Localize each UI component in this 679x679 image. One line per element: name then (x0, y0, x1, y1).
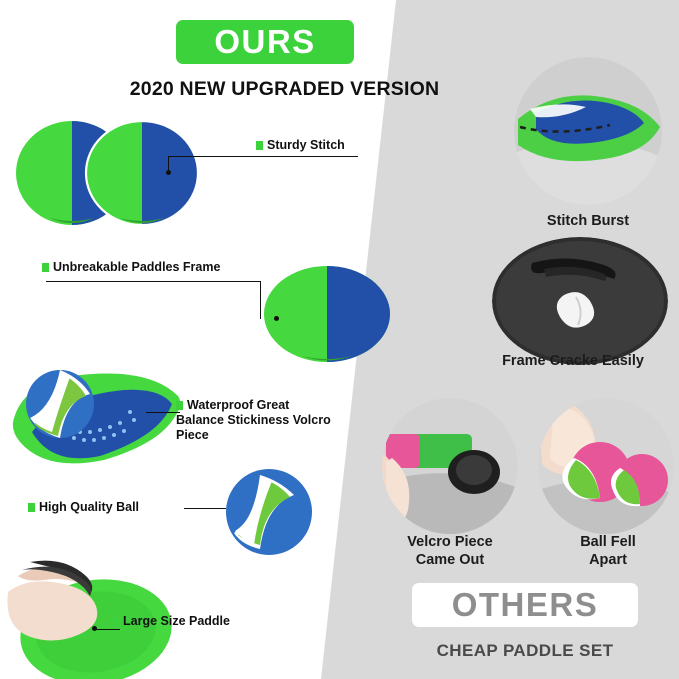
paddle-single-icon (262, 264, 392, 364)
bullet-square-icon (256, 141, 263, 150)
callout-velcro-came-out: Velcro Piece Came Out (372, 533, 528, 569)
leader-dot-sturdy-stitch (166, 170, 171, 175)
callout-unbreakable-frame: Unbreakable Paddles Frame (42, 260, 220, 275)
callout-ball-fell-apart: Ball Fell Apart (540, 533, 676, 569)
leader-line-high-quality-ball (184, 508, 226, 509)
leader-dot-large-size-paddle (92, 626, 97, 631)
others-badge: OTHERS (412, 583, 638, 627)
callout-stitch-burst: Stitch Burst (498, 212, 678, 230)
paddle-top-left-icon (14, 118, 204, 228)
leader-dot-unbreakable-frame (274, 316, 279, 321)
velcro-closeup-icon (8, 360, 188, 475)
velcro-came-out-photo-icon (382, 398, 518, 534)
callout-high-quality-ball: High Quality Ball (28, 500, 139, 515)
ours-subtitle: 2020 NEW UPGRADED VERSION (112, 78, 457, 101)
callout-sturdy-stitch: Sturdy Stitch (256, 138, 345, 153)
ours-badge: OURS (176, 20, 354, 64)
hand-holding-paddle-icon (0, 540, 200, 679)
high-quality-ball-icon (224, 467, 314, 557)
callout-frame-cracke-easily: Frame Cracke Easily (460, 352, 679, 370)
frame-cracke-photo-icon (492, 237, 668, 365)
ours-badge-label: OURS (214, 23, 315, 61)
bullet-square-icon (112, 617, 119, 626)
bullet-square-icon (28, 503, 35, 512)
callout-large-size-paddle: Large Size Paddle (112, 614, 230, 629)
stitch-burst-photo-icon (514, 57, 662, 205)
callout-waterproof-velcro: Waterproof Great Balance Stickiness Volc… (176, 398, 356, 443)
others-badge-label: OTHERS (452, 586, 599, 624)
photo-stitch-burst (514, 57, 662, 205)
bullet-square-icon (176, 401, 183, 410)
photo-ball-fell-apart (538, 398, 674, 534)
leader-line-large-size-paddle (96, 629, 120, 630)
bullet-square-icon (42, 263, 49, 272)
leader-tail-unbreakable-frame (260, 281, 261, 319)
others-subtitle: CHEAP PADDLE SET (392, 641, 658, 661)
photo-velcro-came-out (382, 398, 518, 534)
infographic-canvas: Sturdy Stitch Unbreakable Paddles Frame … (0, 0, 679, 679)
leader-line-sturdy-stitch (168, 156, 358, 157)
ball-fell-apart-photo-icon (538, 398, 674, 534)
leader-line-unbreakable-frame (46, 281, 260, 282)
leader-line-waterproof-velcro (146, 412, 180, 413)
photo-frame-cracke (492, 237, 668, 365)
